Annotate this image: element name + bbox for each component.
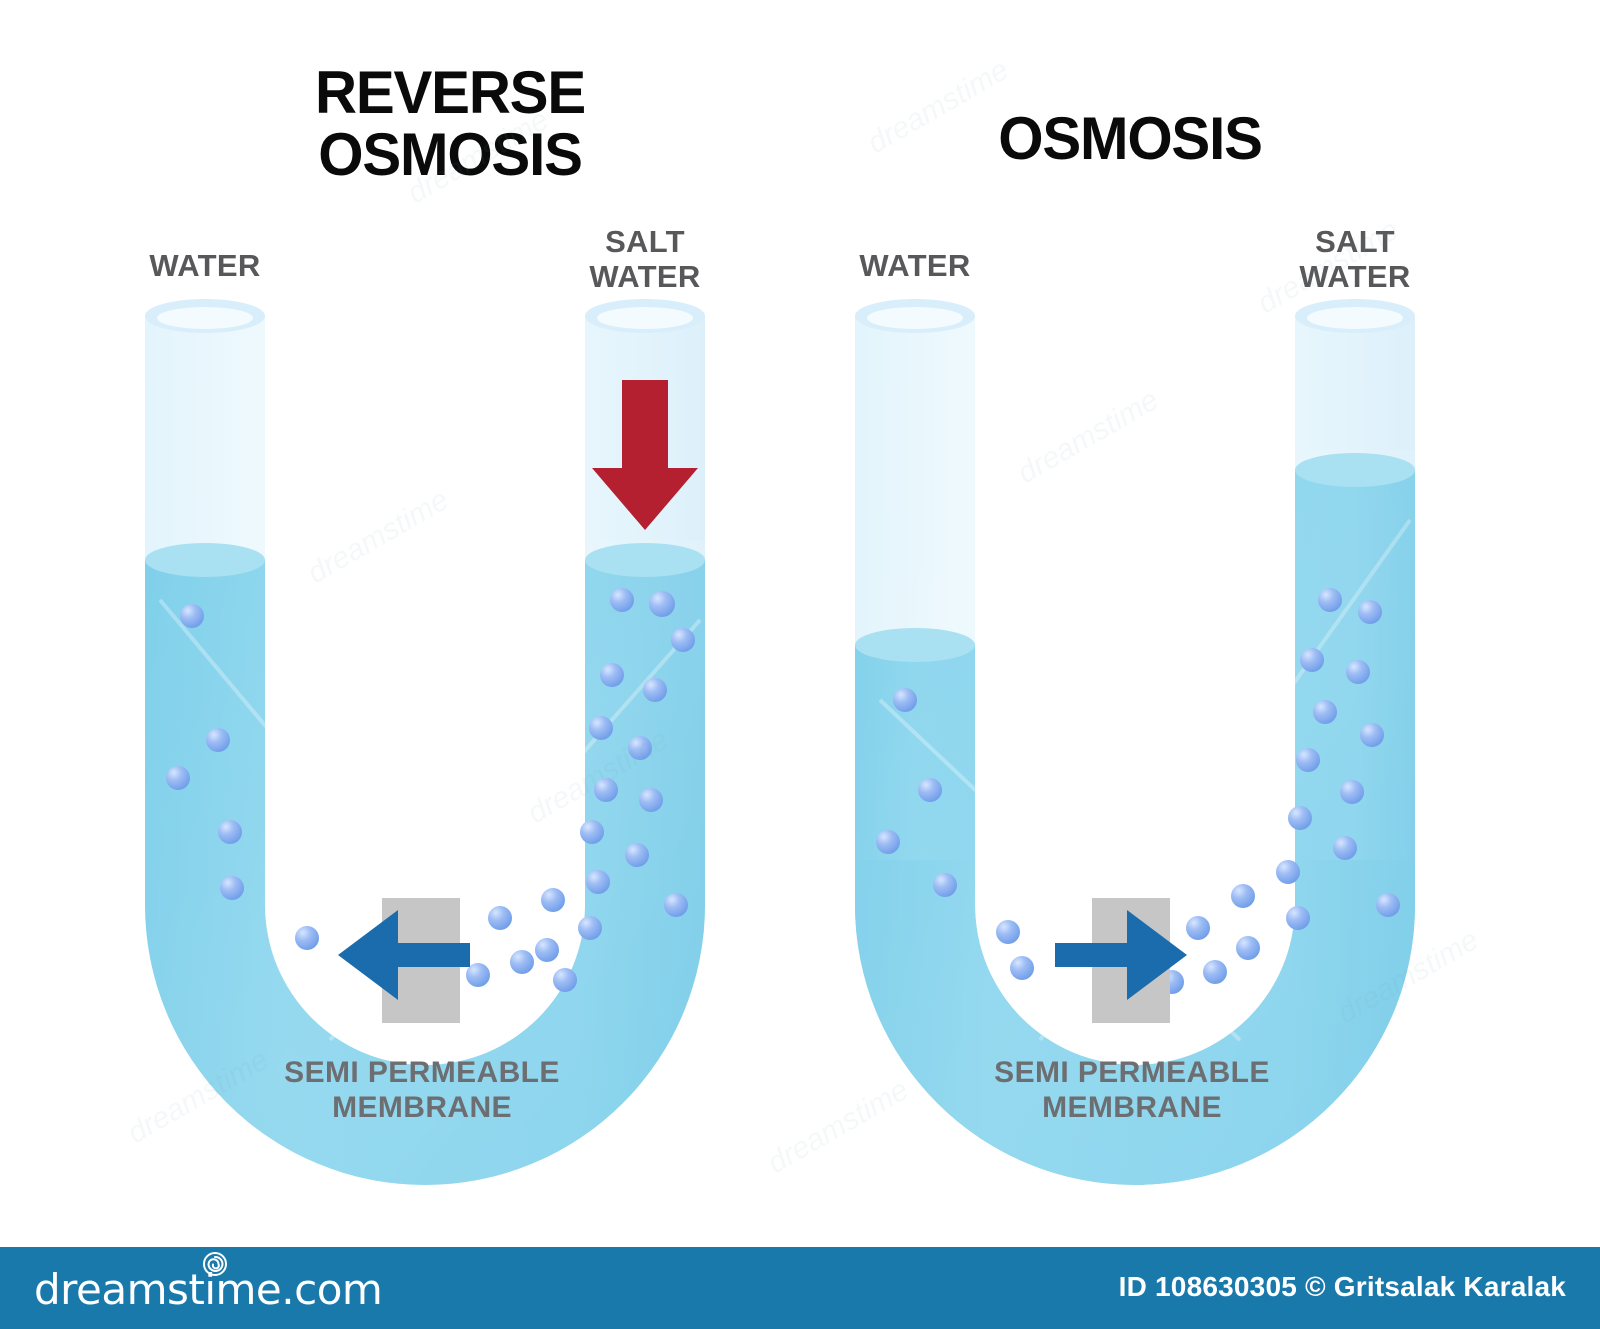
water-surface-left-column-osmosis [855, 628, 975, 662]
osmosis-diagram-canvas [0, 0, 1600, 1329]
tube-rim-inner-right [1307, 307, 1403, 329]
tube-rim-inner-left [867, 307, 963, 329]
page-title-osmosis: OSMOSIS [936, 108, 1324, 170]
water-surface-right-column [585, 543, 705, 577]
tube-label-salt-water-reverse-osmosis: SALT WATER [545, 224, 745, 294]
dreamstime-logo[interactable]: dreamstime.com [34, 1265, 382, 1313]
page-title-reverse-osmosis: REVERSE OSMOSIS [198, 62, 702, 186]
watermark-footer-bar: dreamstime.com ID 108630305 © Gritsalak … [0, 1247, 1600, 1329]
tube-label-salt-water-osmosis: SALT WATER [1255, 224, 1455, 294]
footer-credit-text: ID 108630305 © Gritsalak Karalak [1119, 1271, 1566, 1303]
tube-rim-inner-right [597, 307, 693, 329]
spiral-icon [202, 1251, 228, 1277]
membrane-caption-osmosis: SEMI PERMEABLE MEMBRANE [932, 1055, 1332, 1125]
water-surface-right-column-osmosis [1295, 453, 1415, 487]
tube-label-water-reverse-osmosis: WATER [105, 248, 305, 283]
tube-rim-inner-left [157, 307, 253, 329]
tube-label-water-osmosis: WATER [815, 248, 1015, 283]
membrane-caption-reverse-osmosis: SEMI PERMEABLE MEMBRANE [222, 1055, 622, 1125]
water-surface-left-column [145, 543, 265, 577]
